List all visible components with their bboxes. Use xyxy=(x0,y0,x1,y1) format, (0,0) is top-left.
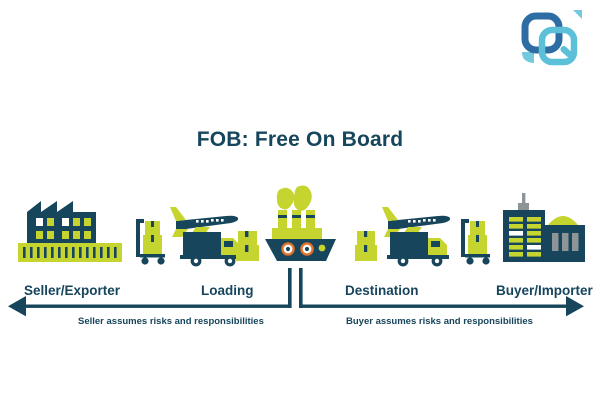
seller-responsibility-arrow xyxy=(8,296,290,316)
page-title: FOB: Free On Board xyxy=(0,128,600,152)
office-building-icon xyxy=(503,193,585,262)
logo-shard-bottom-left xyxy=(522,52,534,63)
fob-transfer-divider xyxy=(288,268,303,308)
buyer-responsibility-arrow xyxy=(300,296,584,316)
package-box-icon xyxy=(355,231,377,261)
seller-risk-caption: Seller assumes risks and responsibilitie… xyxy=(78,316,264,327)
fob-illustration xyxy=(0,185,600,280)
brand-logo xyxy=(516,8,584,68)
delivery-truck-icon xyxy=(180,232,242,266)
logo-shard-top-right xyxy=(573,10,582,19)
factory-icon xyxy=(18,201,122,262)
cargo-ship-icon xyxy=(265,186,336,261)
hand-truck-icon xyxy=(461,219,490,265)
hand-truck-icon xyxy=(136,219,165,265)
delivery-truck-icon xyxy=(387,232,449,266)
buyer-risk-caption: Buyer assumes risks and responsibilities xyxy=(346,316,533,327)
package-box-icon xyxy=(236,231,259,261)
